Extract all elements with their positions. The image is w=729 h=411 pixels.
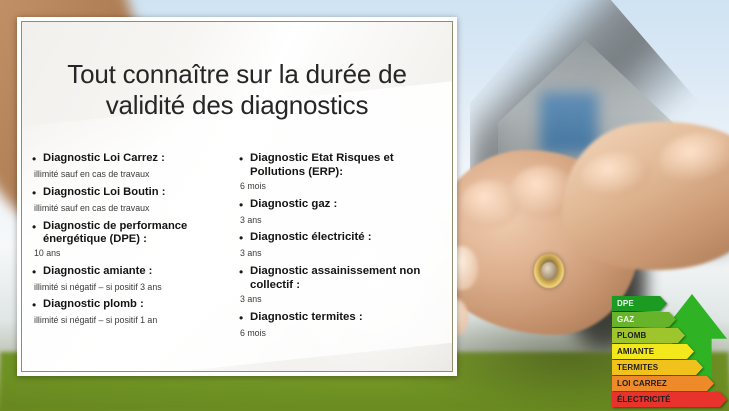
diagnostic-duration: illimité sauf en cas de travaux xyxy=(34,170,233,180)
energy-band-label: AMIANTE xyxy=(617,347,654,356)
diagnostic-term: Diagnostic plomb : xyxy=(43,298,144,311)
diagnostic-term: Diagnostic gaz : xyxy=(250,198,337,211)
content-frame-inner-border: Tout connaître sur la durée de validité … xyxy=(21,21,453,372)
energy-band-termites: TERMITES xyxy=(612,360,703,375)
diagnostic-duration: 6 mois xyxy=(240,329,440,339)
diagnostic-duration: 10 ans xyxy=(34,249,233,259)
diagnostic-duration: 3 ans xyxy=(240,216,440,226)
diagnostic-term: Diagnostic électricité : xyxy=(250,231,372,244)
energy-band-label: PLOMB xyxy=(617,331,646,340)
energy-band-dpe: DPE xyxy=(612,296,667,311)
diagnostic-duration: illimité si négatif – si positif 1 an xyxy=(34,316,233,326)
bullet-icon: • xyxy=(32,265,43,280)
panel-content: Tout connaître sur la durée de validité … xyxy=(22,39,452,372)
diagnostic-duration: illimité si négatif – si positif 3 ans xyxy=(34,283,233,293)
list-item: • Diagnostic gaz : xyxy=(239,198,440,213)
content-frame: Tout connaître sur la durée de validité … xyxy=(17,17,457,376)
diagnostics-columns: • Diagnostic Loi Carrez : illimité sauf … xyxy=(22,138,452,344)
list-item: • Diagnostic assainissement non collecti… xyxy=(239,265,440,292)
list-item: • Diagnostic Etat Risques et Pollutions … xyxy=(239,152,440,179)
bullet-icon: • xyxy=(239,198,250,213)
slide-canvas: Tout connaître sur la durée de validité … xyxy=(0,0,729,411)
diagnostics-column-left: • Diagnostic Loi Carrez : illimité sauf … xyxy=(32,152,233,344)
diagnostic-term: Diagnostic termites : xyxy=(250,311,363,324)
bullet-icon: • xyxy=(239,265,250,280)
energy-band-electricite: ÉLECTRICITÉ xyxy=(612,392,727,407)
energy-band-gaz: GAZ xyxy=(612,312,676,327)
list-item: • Diagnostic termites : xyxy=(239,311,440,326)
list-item: • Diagnostic amiante : xyxy=(32,265,233,280)
diagnostic-term: Diagnostic assainissement non collectif … xyxy=(250,265,440,292)
diagnostic-term: Diagnostic amiante : xyxy=(43,265,152,278)
energy-band-label: GAZ xyxy=(617,315,634,324)
energy-band-amiante: AMIANTE xyxy=(612,344,694,359)
energy-band-label: ÉLECTRICITÉ xyxy=(617,395,671,404)
list-item: • Diagnostic Loi Boutin : xyxy=(32,186,233,201)
bullet-icon: • xyxy=(32,220,43,235)
bullet-icon: • xyxy=(32,298,43,313)
energy-band-loi-carrez: LOI CARREZ xyxy=(612,376,714,391)
diagnostics-column-right: • Diagnostic Etat Risques et Pollutions … xyxy=(239,152,440,344)
bullet-icon: • xyxy=(239,311,250,326)
energy-band-list: DPE GAZ PLOMB AMIANTE TERMITES LOI CARRE… xyxy=(612,296,729,408)
list-item: • Diagnostic de performance énergétique … xyxy=(32,220,233,246)
bullet-icon: • xyxy=(32,186,43,201)
gold-ring xyxy=(534,254,564,288)
energy-band-label: LOI CARREZ xyxy=(617,379,667,388)
bullet-icon: • xyxy=(239,152,250,167)
diagnostic-term: Diagnostic Loi Carrez : xyxy=(43,152,165,165)
energy-band-label: TERMITES xyxy=(617,363,658,372)
energy-rating-badge: DPE GAZ PLOMB AMIANTE TERMITES LOI CARRE… xyxy=(612,292,729,408)
bullet-icon: • xyxy=(239,231,250,246)
bullet-icon: • xyxy=(32,152,43,167)
list-item: • Diagnostic Loi Carrez : xyxy=(32,152,233,167)
energy-band-plomb: PLOMB xyxy=(612,328,685,343)
diagnostic-duration: 3 ans xyxy=(240,295,440,305)
diagnostic-duration: 6 mois xyxy=(240,182,440,192)
diagnostic-duration: 3 ans xyxy=(240,249,440,259)
diagnostic-term: Diagnostic Etat Risques et Pollutions (E… xyxy=(250,152,440,179)
page-title: Tout connaître sur la durée de validité … xyxy=(22,39,452,120)
list-item: • Diagnostic plomb : xyxy=(32,298,233,313)
energy-band-label: DPE xyxy=(617,299,634,308)
list-item: • Diagnostic électricité : xyxy=(239,231,440,246)
diagnostic-duration: illimité sauf en cas de travaux xyxy=(34,204,233,214)
diagnostic-term: Diagnostic de performance énergétique (D… xyxy=(43,220,233,246)
diagnostic-term: Diagnostic Loi Boutin : xyxy=(43,186,165,199)
